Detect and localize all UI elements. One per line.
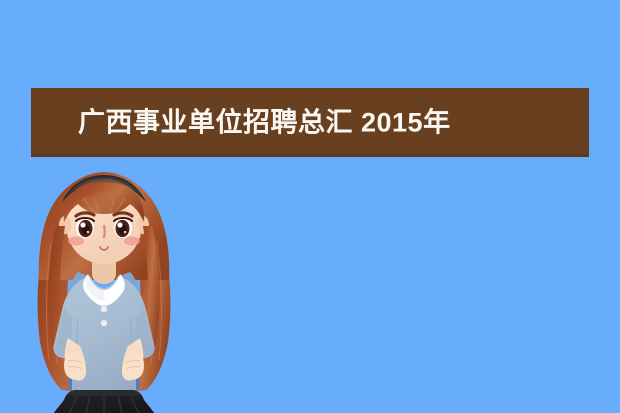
- skirt-waistband: [67, 390, 141, 396]
- title-banner: 广西事业单位招聘总汇 2015年: [31, 88, 589, 157]
- schoolgirl-illustration: [18, 168, 190, 413]
- poster-canvas: 广西事业单位招聘总汇 2015年: [0, 0, 620, 413]
- shirt-button-top: [101, 306, 108, 313]
- blush-right: [124, 237, 140, 246]
- eye-left: [76, 218, 94, 238]
- nose: [104, 226, 105, 237]
- eye-right: [114, 218, 132, 238]
- page-title: 广西事业单位招聘总汇 2015年: [78, 109, 451, 136]
- shirt-button-bottom: [101, 320, 108, 327]
- blush-left: [68, 237, 84, 246]
